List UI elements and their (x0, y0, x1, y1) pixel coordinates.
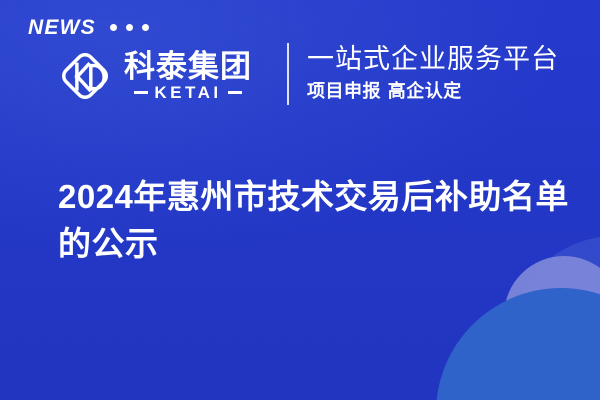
news-dot-icon (126, 24, 133, 31)
tagline-main: 一站式企业服务平台 (307, 44, 559, 76)
brand-rule-right-icon (228, 91, 242, 94)
brand-logo-lockup: 科泰集团 KETAI (56, 42, 252, 110)
brand-name-latin: KETAI (154, 84, 221, 101)
news-banner: NEWS 科泰集团 KETAI (0, 0, 600, 400)
brand-rule-left-icon (134, 91, 148, 94)
news-dots-icon (110, 24, 149, 31)
brand-latin-row: KETAI (124, 84, 252, 101)
page-title: 2024年惠州市技术交易后补助名单的公示 (58, 174, 574, 268)
news-dot-icon (142, 24, 149, 31)
brand-name-cn: 科泰集团 (124, 51, 252, 83)
brand-wordmark: 科泰集团 KETAI (124, 51, 252, 101)
logo-tagline-divider (287, 43, 289, 105)
news-label: NEWS (28, 17, 96, 38)
news-dot-icon (110, 24, 117, 31)
tagline-block: 一站式企业服务平台 项目申报 高企认定 (307, 44, 559, 102)
news-eyebrow: NEWS (28, 14, 149, 40)
tagline-sub: 项目申报 高企认定 (307, 81, 559, 103)
ketai-diamond-kd-logo-icon (56, 47, 114, 105)
